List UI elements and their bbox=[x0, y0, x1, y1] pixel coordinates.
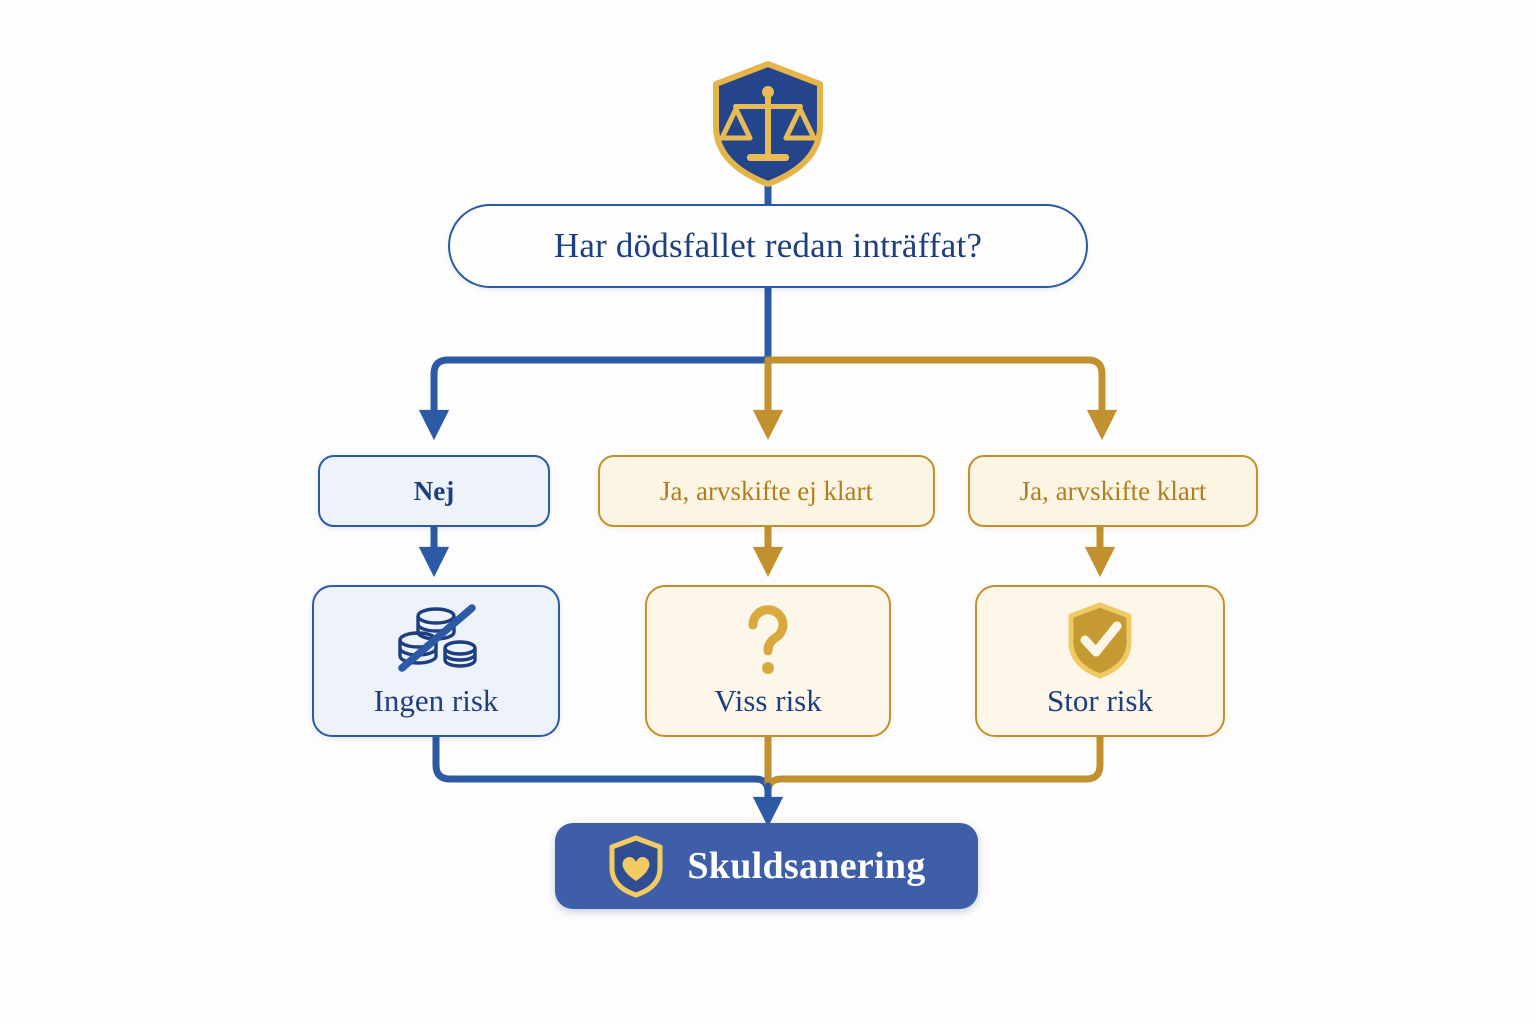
question-label: Har dödsfallet redan inträffat? bbox=[554, 226, 982, 266]
shield-check-icon bbox=[1065, 603, 1135, 677]
final-outcome-label: Skuldsanering bbox=[687, 844, 925, 888]
branch-chip-nej[interactable]: Nej bbox=[318, 455, 550, 527]
outcome-card-viss-risk[interactable]: Viss risk bbox=[645, 585, 891, 737]
outcome-card-label: Stor risk bbox=[1047, 683, 1153, 719]
branch-chip-label: Nej bbox=[414, 476, 454, 507]
outcome-card-ingen-risk[interactable]: Ingen risk bbox=[312, 585, 560, 737]
outcome-card-stor-risk[interactable]: Stor risk bbox=[975, 585, 1225, 737]
branch-chip-label: Ja, arvskifte klart bbox=[1020, 476, 1207, 507]
question-mark-icon bbox=[738, 603, 798, 677]
no-coins-icon bbox=[388, 603, 484, 677]
shield-heart-icon bbox=[607, 834, 665, 898]
outcome-card-label: Ingen risk bbox=[374, 683, 499, 719]
branch-chip-label: Ja, arvskifte ej klart bbox=[660, 476, 873, 507]
branch-chip-ja-arvskifte-ej-klart[interactable]: Ja, arvskifte ej klart bbox=[598, 455, 935, 527]
flowchart-canvas: Har dödsfallet redan inträffat? Nej Ja, … bbox=[0, 0, 1536, 1024]
scales-of-justice-shield-icon bbox=[703, 58, 833, 188]
branch-chip-ja-arvskifte-klart[interactable]: Ja, arvskifte klart bbox=[968, 455, 1258, 527]
outcome-card-label: Viss risk bbox=[714, 683, 822, 719]
final-outcome-skuldsanering[interactable]: Skuldsanering bbox=[555, 823, 978, 909]
question-node[interactable]: Har dödsfallet redan inträffat? bbox=[448, 204, 1088, 288]
